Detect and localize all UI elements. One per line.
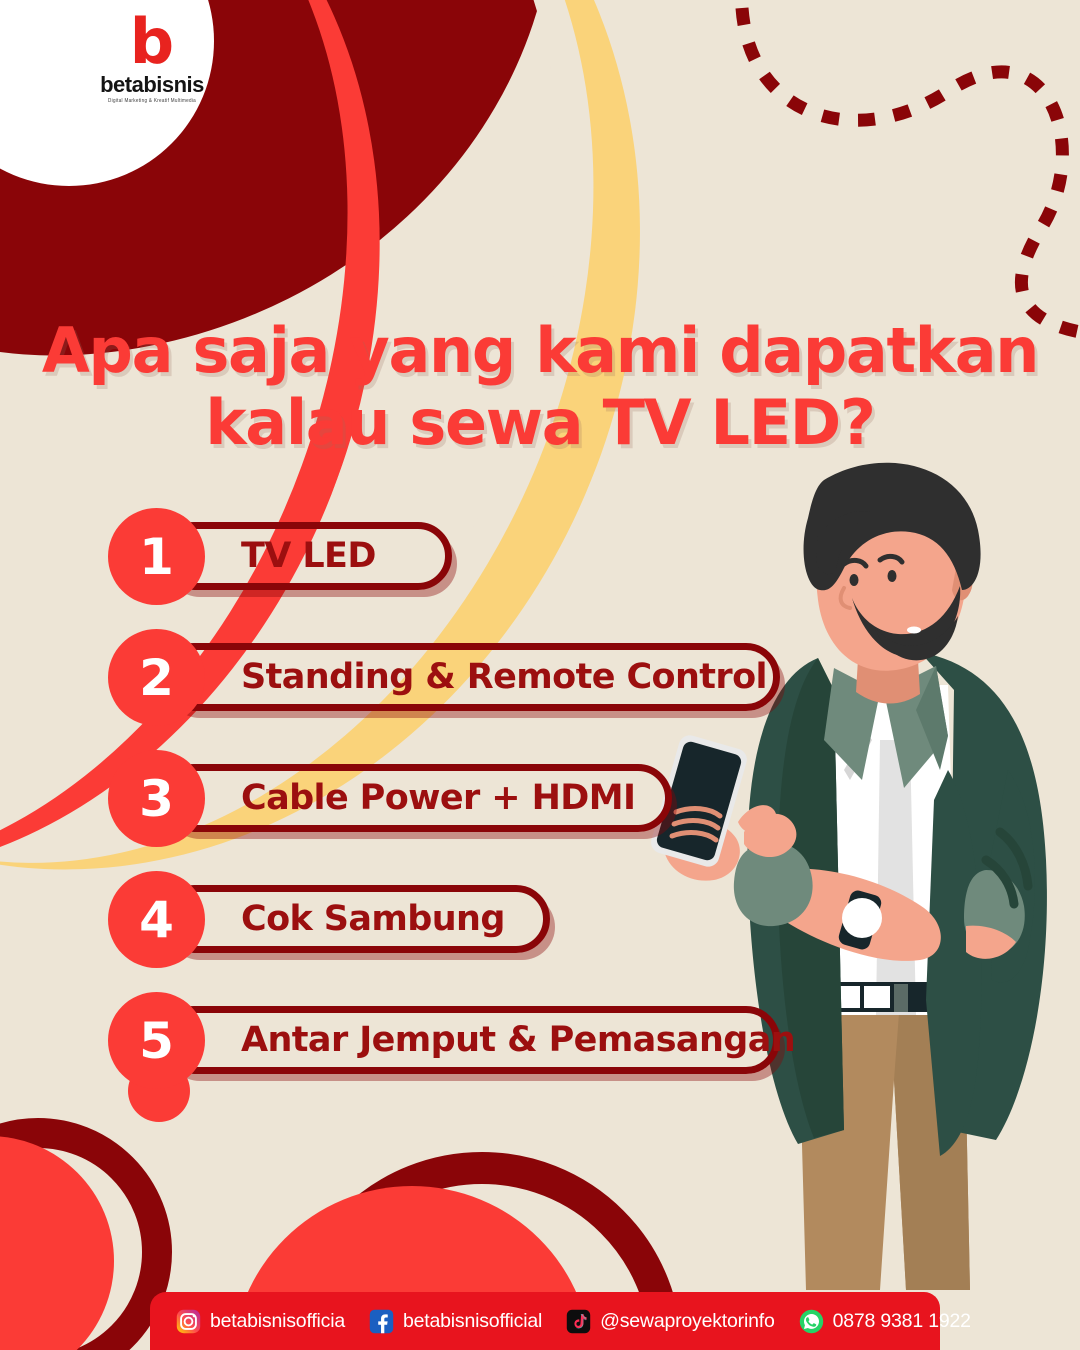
list-item: Standing & Remote Control 2 (108, 629, 808, 726)
benefit-label: Cable Power + HDMI (241, 778, 635, 818)
benefit-label: Standing & Remote Control (241, 657, 767, 697)
benefit-label: Cok Sambung (241, 899, 505, 939)
headline-line-2: kalau sewa TV LED? (0, 387, 1080, 459)
benefit-number-badge: 4 (108, 871, 205, 968)
social-whatsapp[interactable]: 0878 9381 1922 (799, 1309, 971, 1334)
social-facebook[interactable]: betabisnisofficial (369, 1309, 542, 1334)
tiktok-handle: @sewaproyektorinfo (600, 1310, 774, 1333)
logo-mark-icon: b (92, 14, 212, 70)
whatsapp-number: 0878 9381 1922 (833, 1310, 971, 1333)
benefit-number: 1 (139, 532, 174, 582)
instagram-handle: betabisnisofficia (210, 1310, 345, 1333)
list-item: Cok Sambung 4 (108, 871, 808, 968)
whatsapp-icon (799, 1309, 824, 1334)
benefit-pill: Standing & Remote Control (160, 643, 780, 711)
footer-contact-bar: betabisnisofficia betabisnisofficial @se… (150, 1292, 940, 1350)
benefit-label: Antar Jemput & Pemasangan (241, 1020, 795, 1060)
benefit-pill: Antar Jemput & Pemasangan (160, 1006, 780, 1074)
brand-logo: b betabisnis Digital Marketing & Kreatif… (92, 14, 212, 103)
headline: Apa saja yang kami dapatkan kalau sewa T… (0, 315, 1080, 459)
headline-line-1: Apa saja yang kami dapatkan (0, 315, 1080, 387)
dashed-swirl-decoration (720, 0, 1080, 340)
list-item: Cable Power + HDMI 3 (108, 750, 808, 847)
benefit-label: TV LED (241, 536, 376, 576)
poster-canvas: b betabisnis Digital Marketing & Kreatif… (0, 0, 1080, 1350)
benefit-number-badge: 5 (108, 992, 205, 1089)
instagram-icon (176, 1309, 201, 1334)
benefit-number-badge: 3 (108, 750, 205, 847)
benefit-number: 2 (139, 653, 174, 703)
benefits-list: TV LED 1 Standing & Remote Control 2 Cab… (108, 508, 808, 1113)
benefit-pill: Cok Sambung (160, 885, 550, 953)
list-item: TV LED 1 (108, 508, 808, 605)
benefit-number: 4 (139, 895, 174, 945)
benefit-number-badge: 2 (108, 629, 205, 726)
benefit-pill: Cable Power + HDMI (160, 764, 672, 832)
facebook-handle: betabisnisofficial (403, 1310, 542, 1333)
facebook-icon (369, 1309, 394, 1334)
social-instagram[interactable]: betabisnisofficia (176, 1309, 345, 1334)
list-item: Antar Jemput & Pemasangan 5 (108, 992, 808, 1089)
benefit-number-badge: 1 (108, 508, 205, 605)
logo-wordmark: betabisnis (92, 72, 212, 98)
tiktok-icon (566, 1309, 591, 1334)
benefit-number: 5 (139, 1016, 174, 1066)
social-tiktok[interactable]: @sewaproyektorinfo (566, 1309, 774, 1334)
benefit-number: 3 (139, 774, 174, 824)
logo-tagline: Digital Marketing & Kreatif Multimedia (92, 98, 212, 104)
